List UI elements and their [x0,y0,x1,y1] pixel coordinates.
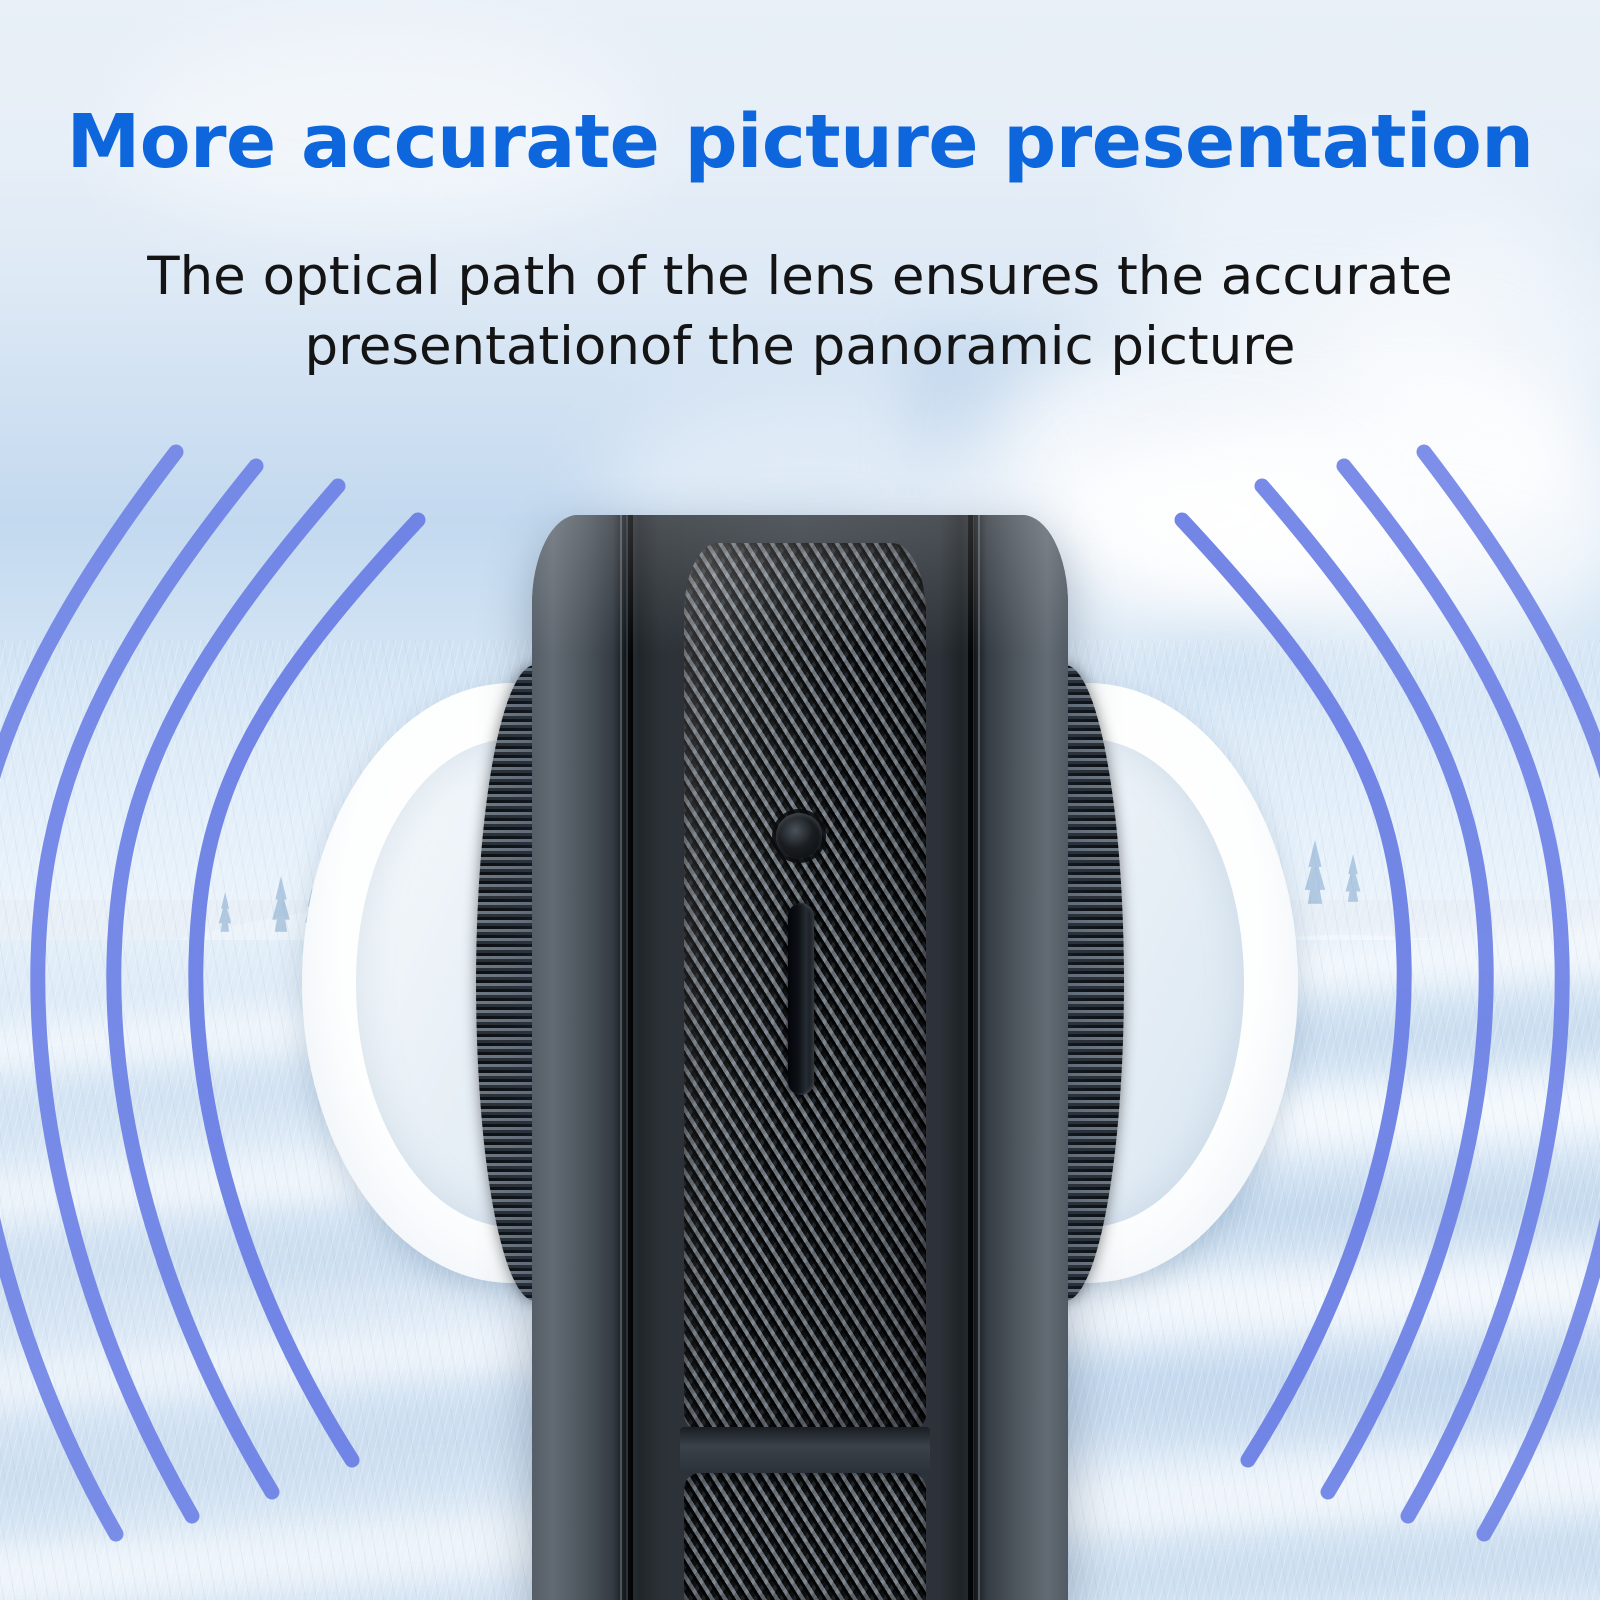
knurled-panel-lower [684,1473,926,1600]
body-side-rail-right [974,515,1068,1600]
camera-body [532,515,1068,1600]
body-seam-right [968,515,973,1600]
body-top-highlight [532,515,1068,655]
microphone-hole [776,813,822,859]
panoramic-camera [470,515,1130,1600]
promo-banner: More accurate picture presentation The o… [0,0,1600,1600]
body-side-rail-left [532,515,626,1600]
body-panel-divider [680,1427,930,1475]
body-seam-highlight-left [620,515,622,1600]
shutter-button-slot[interactable] [788,903,814,1095]
body-seam-highlight-right [978,515,980,1600]
body-seam-left [628,515,633,1600]
page-subtitle: The optical path of the lens ensures the… [50,242,1550,382]
page-title: More accurate picture presentation [0,104,1600,182]
